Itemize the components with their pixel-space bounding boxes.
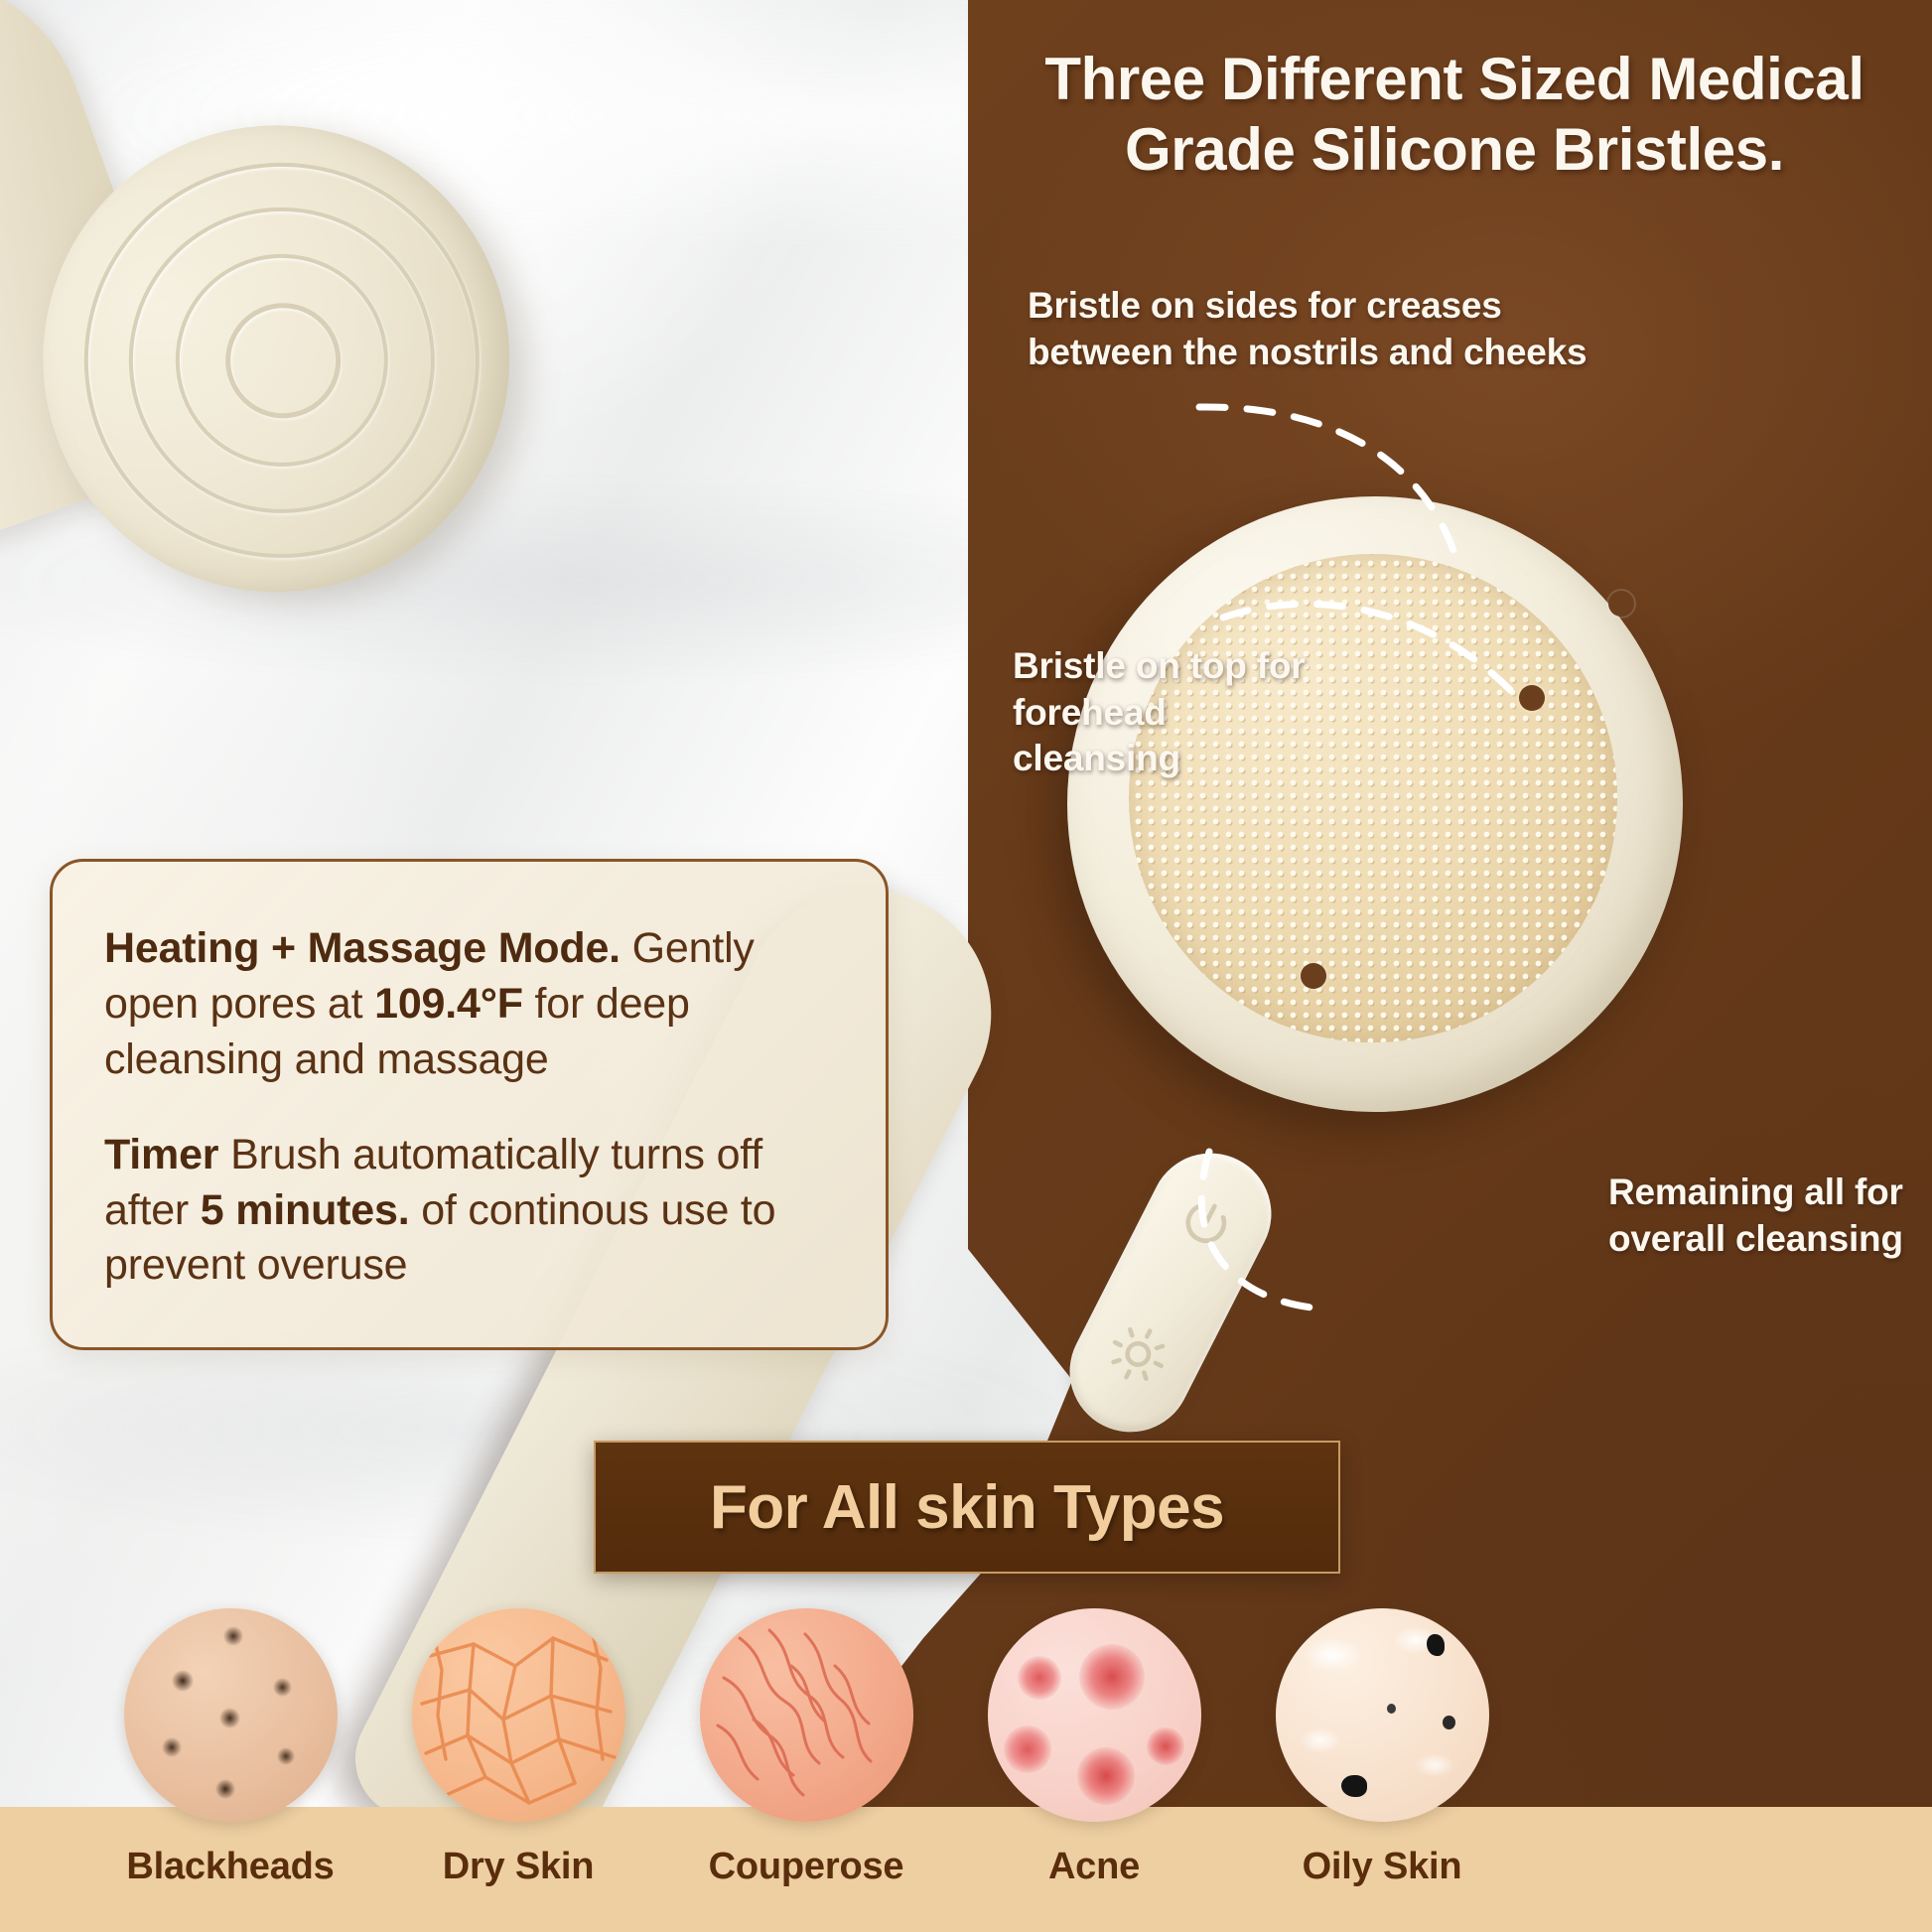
feature-description-box: Heating + Massage Mode. Gently open pore… — [50, 859, 889, 1350]
feature-timer: Timer Brush automatically turns off afte… — [104, 1128, 834, 1295]
silicone-bristle-surface — [1129, 554, 1617, 1042]
callout-bristle-on-sides: Bristle on sides for creases between the… — [1028, 283, 1643, 375]
couperose-illustration — [700, 1608, 913, 1822]
skin-type-label: Couperose — [657, 1846, 955, 1888]
oily-skin-illustration — [1276, 1608, 1489, 1822]
feature-heating-label: Heating + Massage Mode. — [104, 924, 621, 972]
skin-types-row: Blackheads Dry Skin — [0, 1600, 1932, 1932]
feature-heating-massage: Heating + Massage Mode. Gently open pore… — [104, 921, 834, 1088]
feature-temperature-value: 109.4°F — [374, 980, 523, 1028]
dry-skin-illustration — [412, 1608, 625, 1822]
infographic-canvas: Three Different Sized Medical Grade Sili… — [0, 0, 1932, 1932]
skin-type-label: Acne — [945, 1846, 1243, 1888]
skin-type-couperose: Couperose — [657, 1608, 955, 1888]
skin-type-dry-skin: Dry Skin — [369, 1608, 667, 1888]
anchor-dot-sides — [1608, 591, 1634, 617]
heat-sun-icon — [1095, 1311, 1180, 1397]
brush-head — [1067, 496, 1683, 1112]
skin-type-blackheads: Blackheads — [81, 1608, 379, 1888]
control-panel — [1049, 1133, 1293, 1453]
anchor-dot-top — [1519, 685, 1545, 711]
acne-illustration — [988, 1608, 1201, 1822]
power-icon — [1163, 1184, 1245, 1267]
callout-bristle-on-top: Bristle on top for forehead cleansing — [1013, 643, 1340, 782]
skin-type-label: Dry Skin — [369, 1846, 667, 1888]
banner-label: For All skin Types — [710, 1472, 1224, 1543]
page-title: Three Different Sized Medical Grade Sili… — [993, 45, 1916, 186]
skin-type-acne: Acne — [945, 1608, 1243, 1888]
anchor-dot-remaining — [1301, 963, 1326, 989]
skin-type-label: Blackheads — [81, 1846, 379, 1888]
skin-type-oily-skin: Oily Skin — [1233, 1608, 1531, 1888]
blackheads-illustration — [124, 1608, 338, 1822]
feature-timer-label: Timer — [104, 1131, 218, 1178]
for-all-skin-types-banner: For All skin Types — [594, 1441, 1340, 1574]
skin-type-label: Oily Skin — [1233, 1846, 1531, 1888]
callout-remaining-all: Remaining all for overall cleansing — [1608, 1170, 1932, 1262]
feature-timer-duration: 5 minutes. — [201, 1186, 410, 1234]
